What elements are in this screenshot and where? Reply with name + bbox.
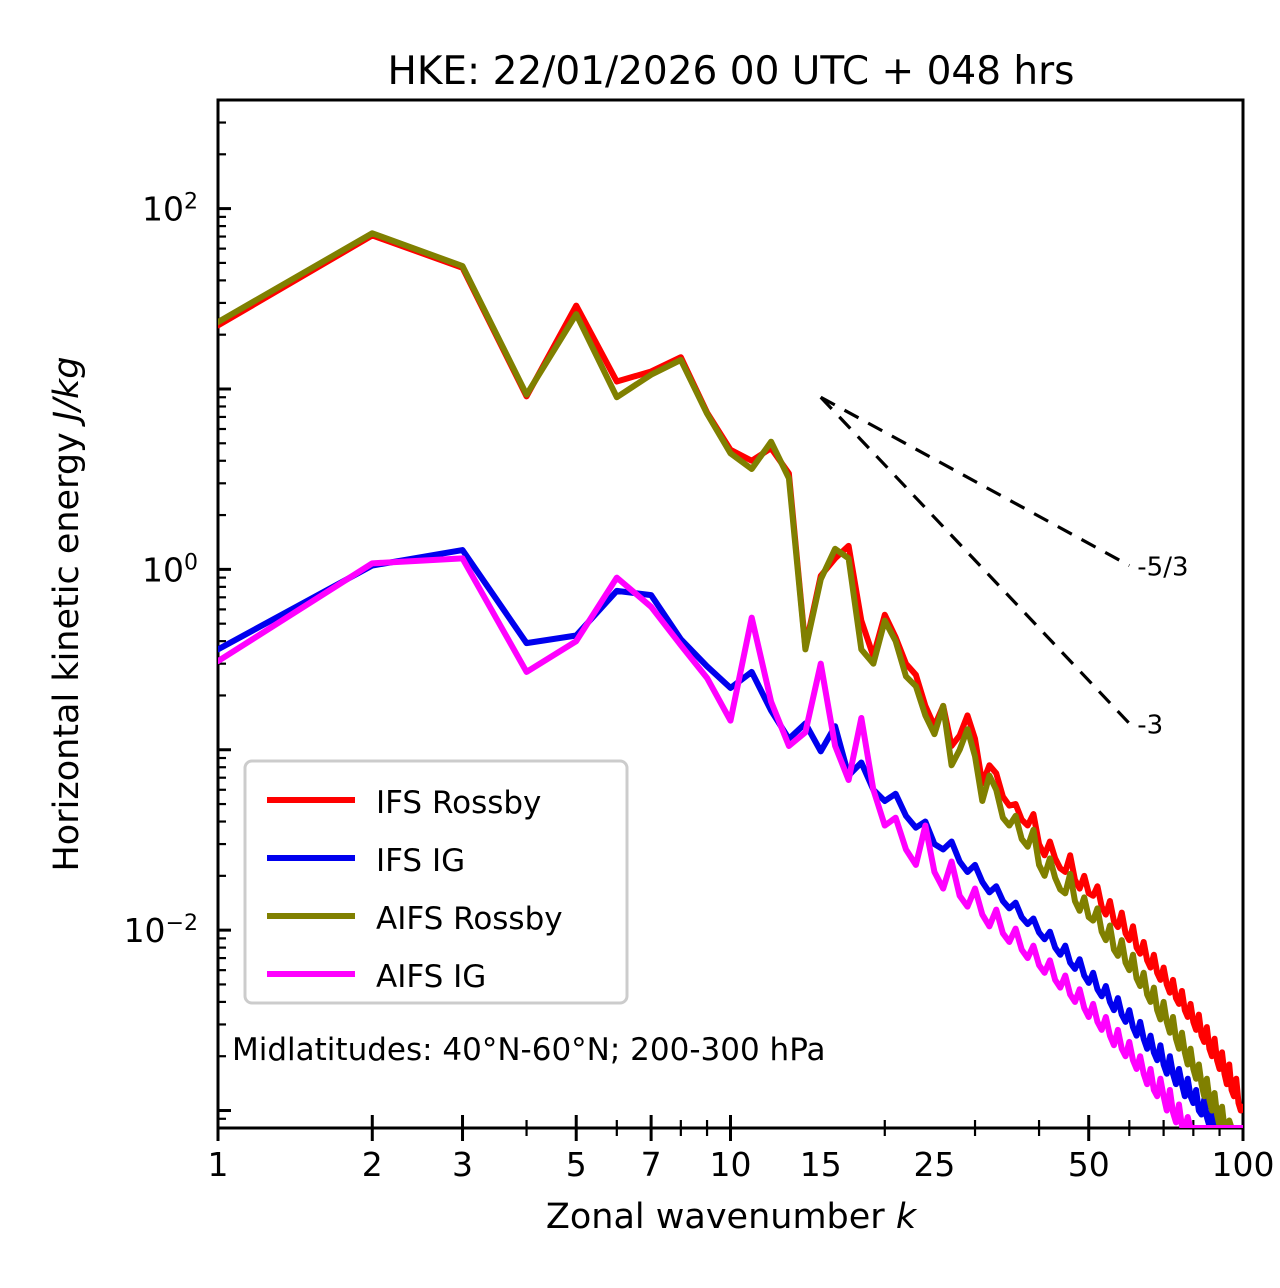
x-tick-label: 100 — [1212, 1145, 1275, 1184]
y-tick-label: 10−2 — [124, 911, 198, 951]
slope-label-minus5over3: -5/3 — [1137, 553, 1188, 583]
x-tick-label: 15 — [800, 1145, 842, 1184]
x-tick-label: 7 — [641, 1145, 662, 1184]
y-axis-label: Horizontal kinetic energy J/kg — [47, 356, 87, 871]
hke-spectrum-chart: HKE: 22/01/2026 00 UTC + 048 hrs 1021001… — [0, 0, 1280, 1288]
x-tick-label: 50 — [1068, 1145, 1110, 1184]
y-tick-label: 102 — [142, 189, 198, 229]
chart-figure: HKE: 22/01/2026 00 UTC + 048 hrs 1021001… — [0, 0, 1280, 1288]
chart-title: HKE: 22/01/2026 00 UTC + 048 hrs — [388, 49, 1075, 94]
legend-label-ifs-rossby: IFS Rossby — [376, 785, 541, 821]
legend: IFS RossbyIFS IGAIFS RossbyAIFS IG — [245, 761, 627, 1003]
y-tick-label: 100 — [142, 550, 198, 590]
legend-label-aifs-ig: AIFS IG — [376, 959, 486, 995]
legend-label-ifs-ig: IFS IG — [376, 843, 465, 879]
x-tick-label: 2 — [362, 1145, 383, 1184]
region-annotation: Midlatitudes: 40°N-60°N; 200-300 hPa — [232, 1032, 826, 1068]
x-tick-label: 3 — [452, 1145, 473, 1184]
legend-label-aifs-rossby: AIFS Rossby — [376, 901, 563, 937]
x-tick-label: 5 — [566, 1145, 587, 1184]
slope-label-minus3: -3 — [1137, 710, 1163, 740]
x-axis-label: Zonal wavenumber k — [546, 1197, 918, 1237]
x-tick-label: 10 — [710, 1145, 752, 1184]
x-tick-label: 25 — [913, 1145, 955, 1184]
x-tick-label: 1 — [208, 1145, 229, 1184]
y-axis-ticks: 10210010−2 — [124, 100, 231, 1128]
